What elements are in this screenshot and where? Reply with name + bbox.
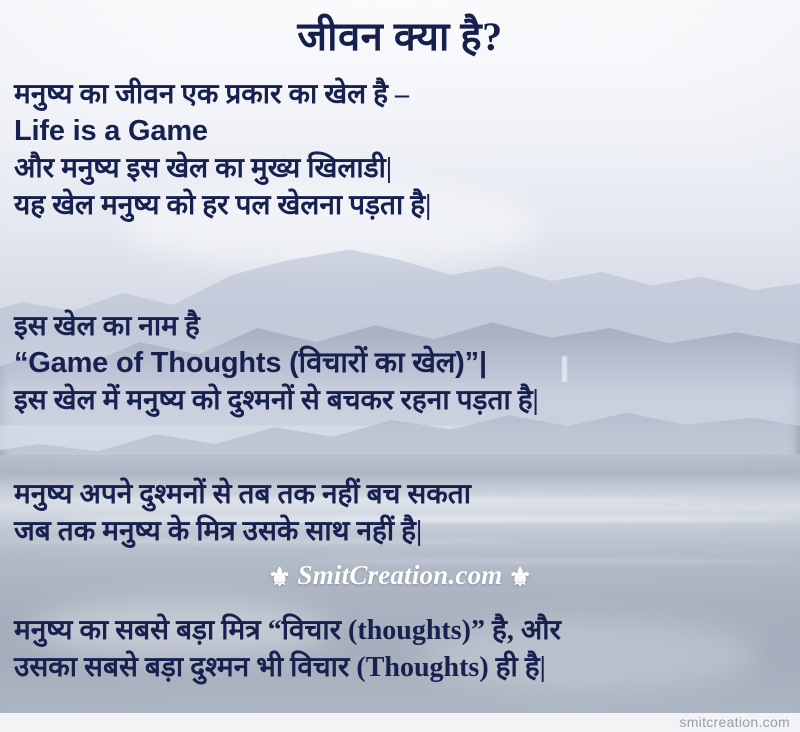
quote-line: मनुष्य अपने दुश्मनों से तब तक नहीं बच सक… (14, 476, 786, 513)
fleur-de-lis-icon: ⚜ (508, 562, 532, 594)
quote-block-4: मनुष्य का सबसे बड़ा मित्र “विचार (though… (14, 612, 786, 686)
quote-line: इस खेल का नाम है (14, 308, 786, 345)
fleur-de-lis-icon: ⚜ (268, 562, 292, 594)
page-title: जीवन क्या है? (0, 14, 800, 60)
quote-line: यह खेल मनुष्य को हर पल खेलना पड़ता है| (14, 187, 786, 224)
quote-poster: जीवन क्या है? मनुष्य का जीवन एक प्रकार क… (0, 0, 800, 732)
quote-line-english: “Game of Thoughts (विचारों का खेल)”| (14, 345, 786, 382)
quote-block-3: मनुष्य अपने दुश्मनों से तब तक नहीं बच सक… (14, 476, 786, 550)
quote-line-english: Life is a Game (14, 113, 786, 150)
quote-line: उसका सबसे बड़ा दुश्मन भी विचार (Thoughts… (14, 649, 786, 686)
quote-block-2: इस खेल का नाम है “Game of Thoughts (विचा… (14, 308, 786, 419)
quote-line: इस खेल में मनुष्य को दुश्मनों से बचकर रह… (14, 382, 786, 419)
quote-line: और मनुष्य इस खेल का मुख्य खिलाडी| (14, 150, 786, 187)
footer-bar: smitcreation.com (0, 713, 800, 732)
watermark: ⚜SmitCreation.com⚜ (0, 559, 800, 594)
quote-line: मनुष्य का सबसे बड़ा मित्र “विचार (though… (14, 612, 786, 649)
quote-block-1: मनुष्य का जीवन एक प्रकार का खेल है – Lif… (14, 76, 786, 224)
quote-line: जब तक मनुष्य के मित्र उसके साथ नहीं है| (14, 513, 786, 550)
quote-line: मनुष्य का जीवन एक प्रकार का खेल है – (14, 76, 786, 113)
watermark-brand: SmitCreation.com (298, 559, 503, 591)
poster-content: जीवन क्या है? मनुष्य का जीवन एक प्रकार क… (0, 0, 800, 732)
footer-site-label: smitcreation.com (679, 713, 790, 732)
